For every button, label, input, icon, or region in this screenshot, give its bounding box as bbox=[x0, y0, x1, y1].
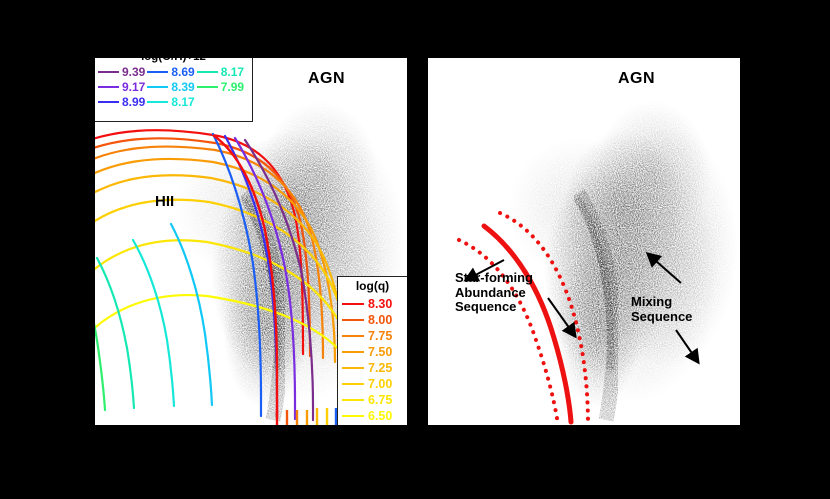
galaxy-density-cloud bbox=[508, 101, 738, 420]
legend-value: 8.17 bbox=[171, 95, 194, 109]
color-swatch-icon bbox=[342, 415, 364, 417]
legend-value: 7.75 bbox=[368, 328, 392, 344]
legend-value: 7.00 bbox=[368, 376, 392, 392]
legend-value: 8.69 bbox=[171, 65, 194, 79]
color-swatch-icon bbox=[98, 101, 119, 103]
legend-item: 7.00 bbox=[342, 376, 403, 392]
color-swatch-icon bbox=[342, 383, 364, 385]
legend-item: 8.39 bbox=[147, 80, 194, 94]
agn-label-right: AGN bbox=[618, 70, 655, 88]
color-swatch-icon bbox=[197, 86, 218, 88]
legend-item: 7.25 bbox=[342, 360, 403, 376]
right-panel-plot bbox=[428, 58, 740, 425]
ionization-parameter-legend: log(q) 8.30 8.00 7.75 7.50 7.25 bbox=[337, 276, 407, 425]
color-swatch-icon bbox=[98, 86, 119, 88]
legend-item: 7.99 bbox=[197, 80, 244, 94]
legend-item: 7.75 bbox=[342, 328, 403, 344]
legend-value: 8.17 bbox=[221, 65, 244, 79]
figure-root: AGN HII log(O/H)+12 9.39 9.17 8. bbox=[0, 0, 830, 499]
legend-item: 8.17 bbox=[197, 65, 244, 79]
hii-label: HII bbox=[155, 193, 174, 210]
legend-item: 6.50 bbox=[342, 408, 403, 424]
color-swatch-icon bbox=[147, 101, 168, 103]
color-swatch-icon bbox=[342, 319, 364, 321]
metallicity-legend-column-3: 8.17 7.99 bbox=[197, 65, 244, 109]
color-swatch-icon bbox=[342, 351, 364, 353]
agn-label-left: AGN bbox=[308, 70, 345, 88]
legend-item: 6.75 bbox=[342, 392, 403, 408]
ionization-parameter-legend-title: log(q) bbox=[342, 279, 403, 294]
metallicity-legend-column-2: 8.69 8.39 8.17 bbox=[147, 65, 194, 109]
legend-item: 8.30 bbox=[342, 296, 403, 312]
metallicity-legend-column-1: 9.39 9.17 8.99 bbox=[98, 65, 145, 109]
legend-value: 7.50 bbox=[368, 344, 392, 360]
empirical-sequence-panel: AGN Star-forming Abundance Sequence Mixi… bbox=[428, 58, 740, 425]
color-swatch-icon bbox=[147, 86, 168, 88]
color-swatch-icon bbox=[197, 71, 218, 73]
legend-item: 9.39 bbox=[98, 65, 145, 79]
legend-value: 8.30 bbox=[368, 296, 392, 312]
legend-value: 8.99 bbox=[122, 95, 145, 109]
legend-item: 8.00 bbox=[342, 312, 403, 328]
color-swatch-icon bbox=[342, 335, 364, 337]
legend-item: 7.50 bbox=[342, 344, 403, 360]
legend-item: 9.17 bbox=[98, 80, 145, 94]
star-forming-abundance-sequence-label: Star-forming Abundance Sequence bbox=[455, 271, 533, 315]
metallicity-legend: log(O/H)+12 9.39 9.17 8.99 bbox=[95, 58, 253, 122]
legend-value: 8.00 bbox=[368, 312, 392, 328]
legend-value: 9.17 bbox=[122, 80, 145, 94]
color-swatch-icon bbox=[342, 303, 364, 305]
color-swatch-icon bbox=[342, 399, 364, 401]
legend-item: 8.99 bbox=[98, 95, 145, 109]
color-swatch-icon bbox=[342, 367, 364, 369]
legend-value: 6.75 bbox=[368, 392, 392, 408]
model-grid-panel: AGN HII log(O/H)+12 9.39 9.17 8. bbox=[95, 58, 407, 425]
legend-value: 6.50 bbox=[368, 408, 392, 424]
legend-value: 8.39 bbox=[171, 80, 194, 94]
mixing-sequence-label: Mixing Sequence bbox=[631, 295, 692, 324]
legend-value: 7.99 bbox=[221, 80, 244, 94]
legend-value: 7.25 bbox=[368, 360, 392, 376]
metallicity-legend-title: log(O/H)+12 bbox=[98, 58, 249, 64]
legend-item: 8.17 bbox=[147, 95, 194, 109]
color-swatch-icon bbox=[98, 71, 119, 73]
legend-item: 8.69 bbox=[147, 65, 194, 79]
legend-value: 9.39 bbox=[122, 65, 145, 79]
color-swatch-icon bbox=[147, 71, 168, 73]
